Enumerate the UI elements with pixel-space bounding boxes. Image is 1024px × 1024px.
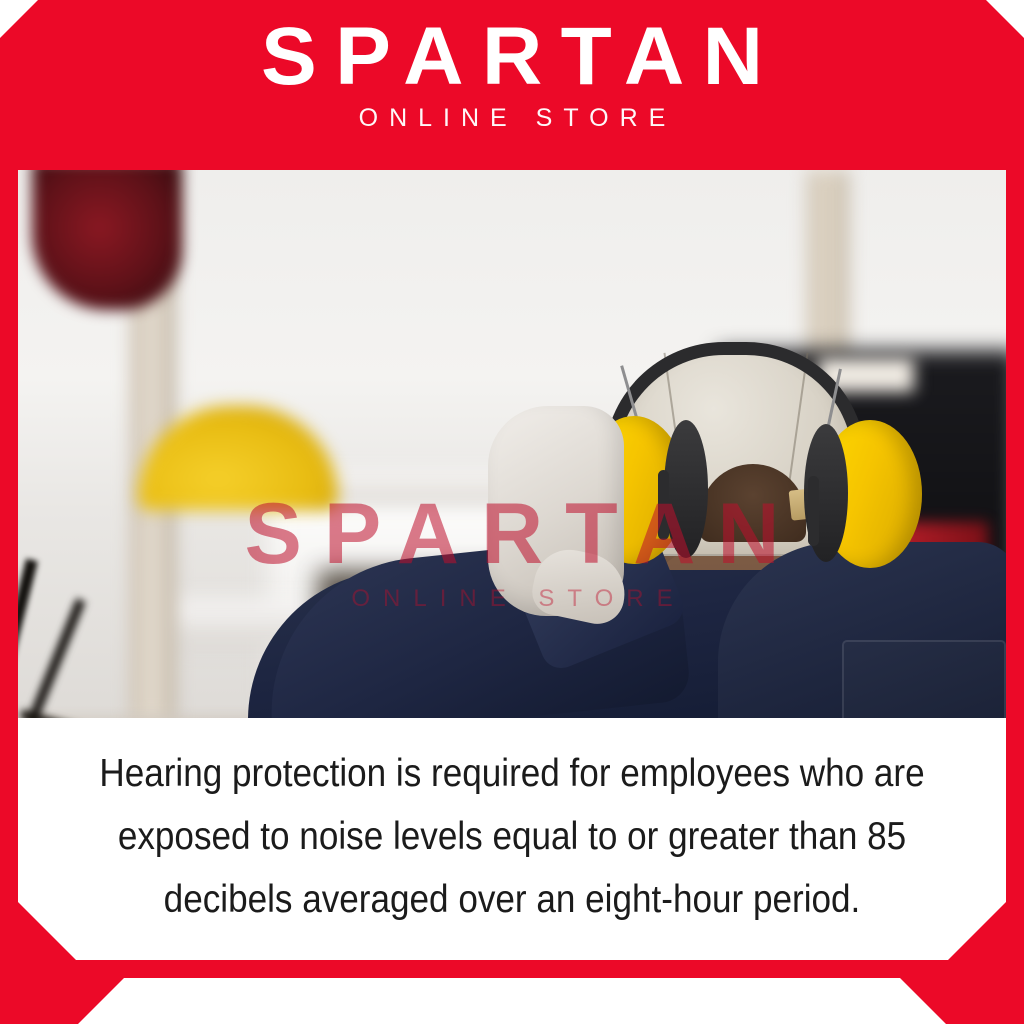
caption-text: Hearing protection is required for emplo… — [87, 742, 937, 931]
background-red-bag — [32, 170, 182, 310]
shirt-pocket — [842, 640, 1006, 718]
brand-header: SPARTAN ONLINE STORE — [0, 14, 1024, 134]
brand-name: SPARTAN — [0, 14, 1024, 100]
hero-photo: SPARTAN ONLINE STORE — [18, 170, 1006, 718]
photo-scene: SPARTAN ONLINE STORE — [18, 170, 1006, 718]
ear-defender-slot-left — [658, 470, 669, 540]
ear-defender-slot-right — [808, 476, 819, 546]
ear-defender-pad-left — [664, 420, 708, 558]
brand-subtitle: ONLINE STORE — [0, 102, 1024, 134]
poster: SPARTAN ONLINE STORE — [0, 0, 1024, 1024]
